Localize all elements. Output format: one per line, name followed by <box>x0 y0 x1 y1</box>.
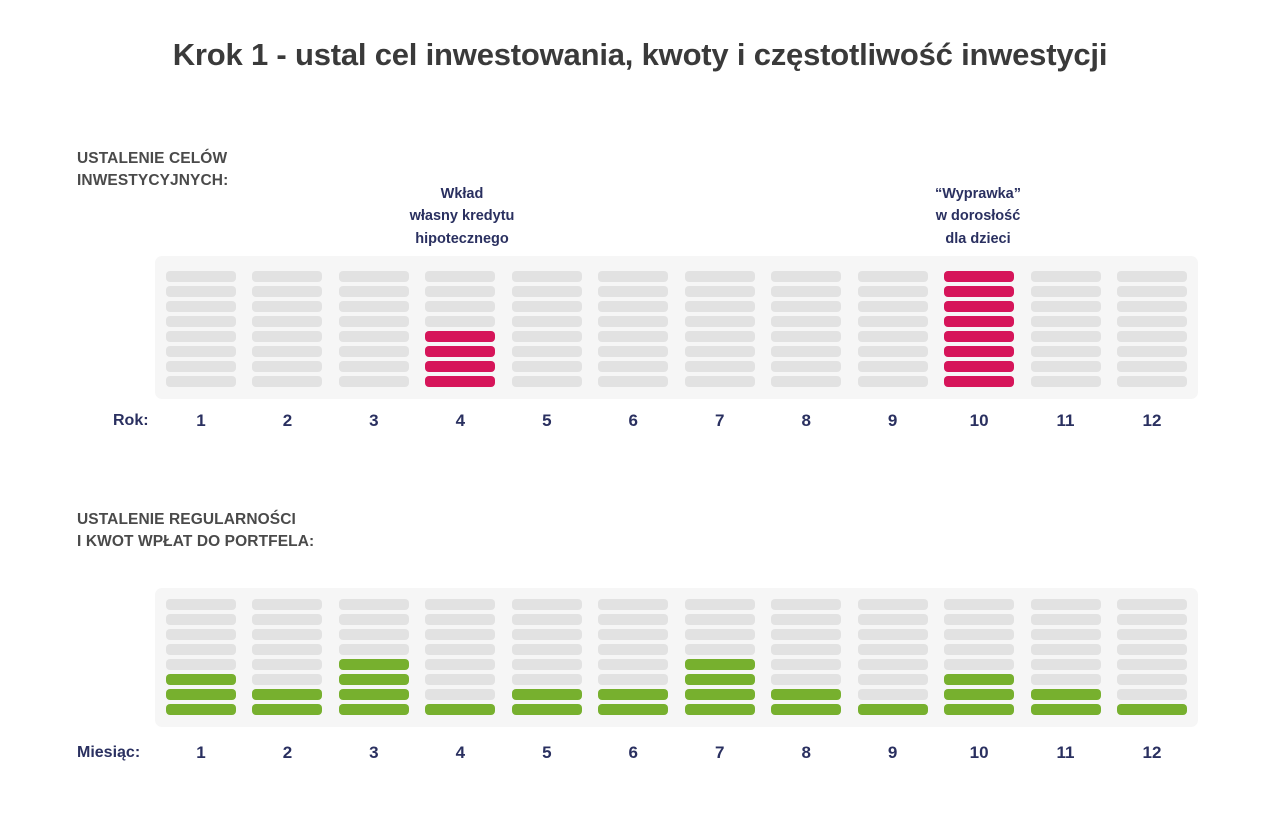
chart-panel-months <box>155 588 1198 727</box>
month-segment <box>252 689 322 700</box>
month-axis-tick: 1 <box>166 743 236 763</box>
year-segment <box>512 316 582 327</box>
year-segment <box>685 331 755 342</box>
month-segment <box>425 689 495 700</box>
section-heading-goals: USTALENIE CELÓW INWESTYCYJNYCH: <box>77 148 228 193</box>
month-segment <box>339 599 409 610</box>
month-segment <box>512 659 582 670</box>
year-column-10[interactable] <box>944 271 1014 387</box>
month-segment <box>166 614 236 625</box>
year-segment <box>944 271 1014 282</box>
year-segment <box>1031 301 1101 312</box>
month-axis-tick: 12 <box>1117 743 1187 763</box>
month-axis-tick: 5 <box>512 743 582 763</box>
year-segment <box>166 376 236 387</box>
month-axis-tick: 3 <box>339 743 409 763</box>
year-segment <box>339 301 409 312</box>
axis-label-month: Miesiąc: <box>77 744 140 762</box>
year-segment <box>858 271 928 282</box>
month-segment <box>166 659 236 670</box>
year-segment <box>1031 271 1101 282</box>
year-segment <box>512 346 582 357</box>
year-segment <box>598 361 668 372</box>
month-segment <box>598 704 668 715</box>
month-segment <box>944 674 1014 685</box>
year-axis-tick: 8 <box>771 411 841 431</box>
month-segment <box>252 599 322 610</box>
month-column-5[interactable] <box>512 599 582 715</box>
month-axis-tick: 2 <box>252 743 322 763</box>
year-segment <box>858 376 928 387</box>
month-column-9[interactable] <box>858 599 928 715</box>
year-segment <box>166 271 236 282</box>
year-segment <box>339 286 409 297</box>
year-segment <box>598 271 668 282</box>
month-segment <box>512 704 582 715</box>
year-segment <box>425 361 495 372</box>
year-segment <box>1117 331 1187 342</box>
month-column-8[interactable] <box>771 599 841 715</box>
month-segment <box>166 644 236 655</box>
month-segment <box>598 674 668 685</box>
year-segment <box>512 376 582 387</box>
year-segment <box>685 271 755 282</box>
month-segment <box>339 689 409 700</box>
year-segment <box>858 316 928 327</box>
year-segment <box>252 271 322 282</box>
year-column-11[interactable] <box>1031 271 1101 387</box>
year-segment <box>944 316 1014 327</box>
month-segment <box>425 674 495 685</box>
year-segment <box>1117 301 1187 312</box>
year-segment <box>944 301 1014 312</box>
year-segment <box>1031 286 1101 297</box>
month-segment <box>1031 614 1101 625</box>
month-segment <box>1031 644 1101 655</box>
month-column-6[interactable] <box>598 599 668 715</box>
month-column-2[interactable] <box>252 599 322 715</box>
year-segment <box>425 331 495 342</box>
month-column-3[interactable] <box>339 599 409 715</box>
year-column-7[interactable] <box>685 271 755 387</box>
month-segment <box>858 704 928 715</box>
month-segment <box>944 614 1014 625</box>
month-column-12[interactable] <box>1117 599 1187 715</box>
year-segment <box>425 346 495 357</box>
year-axis-tick: 12 <box>1117 411 1187 431</box>
month-segment <box>771 704 841 715</box>
year-segment <box>425 316 495 327</box>
month-axis-tick: 6 <box>598 743 668 763</box>
month-segment <box>166 629 236 640</box>
month-axis-tick: 11 <box>1031 743 1101 763</box>
infographic-page: Krok 1 - ustal cel inwestowania, kwoty i… <box>0 0 1280 837</box>
year-segment <box>771 376 841 387</box>
year-column-12[interactable] <box>1117 271 1187 387</box>
month-column-11[interactable] <box>1031 599 1101 715</box>
year-segment <box>685 361 755 372</box>
annotation-children-line1: “Wyprawka” <box>935 183 1021 205</box>
year-segment <box>252 361 322 372</box>
year-segment <box>339 346 409 357</box>
year-segment <box>685 346 755 357</box>
year-segment <box>771 286 841 297</box>
year-axis-tick: 5 <box>512 411 582 431</box>
month-segment <box>425 704 495 715</box>
year-column-5[interactable] <box>512 271 582 387</box>
month-segment <box>1117 629 1187 640</box>
month-segment <box>771 599 841 610</box>
year-segment <box>858 361 928 372</box>
month-axis-tick: 10 <box>944 743 1014 763</box>
axis-label-year: Rok: <box>113 412 149 430</box>
month-segment <box>252 629 322 640</box>
axis-ticks-years: 123456789101112 <box>155 411 1198 431</box>
axis-ticks-months: 123456789101112 <box>155 743 1198 763</box>
month-segment <box>1117 689 1187 700</box>
year-segment <box>771 301 841 312</box>
year-column-1[interactable] <box>166 271 236 387</box>
section-heading-goals-line1: USTALENIE CELÓW <box>77 148 228 170</box>
month-segment <box>944 689 1014 700</box>
month-segment <box>771 689 841 700</box>
year-axis-tick: 2 <box>252 411 322 431</box>
month-segment <box>1031 659 1101 670</box>
year-segment <box>1117 346 1187 357</box>
year-segment <box>1117 316 1187 327</box>
month-segment <box>598 629 668 640</box>
year-segment <box>512 271 582 282</box>
year-column-8[interactable] <box>771 271 841 387</box>
month-segment <box>858 644 928 655</box>
month-segment <box>685 629 755 640</box>
month-segment <box>598 599 668 610</box>
section-heading-regularity-line2: I KWOT WPŁAT DO PORTFELA: <box>77 531 314 553</box>
month-segment <box>771 659 841 670</box>
month-segment <box>1117 674 1187 685</box>
year-segment <box>425 301 495 312</box>
month-segment <box>1117 659 1187 670</box>
annotation-mortgage-line3: hipotecznego <box>410 228 515 250</box>
month-segment <box>771 674 841 685</box>
annotation-mortgage-line1: Wkład <box>410 183 515 205</box>
month-axis-tick: 4 <box>425 743 495 763</box>
year-segment <box>339 271 409 282</box>
month-segment <box>1117 704 1187 715</box>
month-segment <box>685 689 755 700</box>
year-column-3[interactable] <box>339 271 409 387</box>
month-segment <box>685 674 755 685</box>
month-axis-tick: 7 <box>685 743 755 763</box>
month-segment <box>685 704 755 715</box>
month-segment <box>512 689 582 700</box>
month-segment <box>944 659 1014 670</box>
year-segment <box>1031 376 1101 387</box>
month-segment <box>166 689 236 700</box>
year-column-4[interactable] <box>425 271 495 387</box>
year-segment <box>685 316 755 327</box>
month-segment <box>771 644 841 655</box>
month-segment <box>685 644 755 655</box>
year-segment <box>858 301 928 312</box>
month-segment <box>252 704 322 715</box>
month-segment <box>1117 644 1187 655</box>
year-segment <box>166 301 236 312</box>
year-segment <box>771 331 841 342</box>
month-segment <box>252 659 322 670</box>
year-axis-tick: 4 <box>425 411 495 431</box>
year-column-2[interactable] <box>252 271 322 387</box>
year-segment <box>1117 376 1187 387</box>
year-axis-tick: 7 <box>685 411 755 431</box>
year-segment <box>166 346 236 357</box>
year-segment <box>512 361 582 372</box>
month-segment <box>1031 689 1101 700</box>
year-segment <box>339 376 409 387</box>
month-segment <box>598 689 668 700</box>
year-axis-tick: 11 <box>1031 411 1101 431</box>
year-segment <box>1117 271 1187 282</box>
year-segment <box>339 361 409 372</box>
month-segment <box>512 599 582 610</box>
year-segment <box>598 346 668 357</box>
year-segment <box>1031 361 1101 372</box>
month-segment <box>339 629 409 640</box>
month-segment <box>339 644 409 655</box>
section-heading-regularity-line1: USTALENIE REGULARNOŚCI <box>77 509 314 531</box>
month-segment <box>858 659 928 670</box>
month-segment <box>1031 599 1101 610</box>
month-segment <box>944 629 1014 640</box>
month-segment <box>598 644 668 655</box>
month-segment <box>685 614 755 625</box>
year-axis-tick: 10 <box>944 411 1014 431</box>
year-segment <box>252 376 322 387</box>
year-segment <box>339 331 409 342</box>
section-heading-goals-line2: INWESTYCYJNYCH: <box>77 170 228 192</box>
month-segment <box>512 644 582 655</box>
year-segment <box>512 286 582 297</box>
year-axis-tick: 9 <box>858 411 928 431</box>
year-segment <box>944 376 1014 387</box>
year-segment <box>166 286 236 297</box>
year-segment <box>685 286 755 297</box>
month-segment <box>685 659 755 670</box>
year-axis-tick: 3 <box>339 411 409 431</box>
year-segment <box>944 361 1014 372</box>
year-segment <box>252 286 322 297</box>
year-axis-tick: 6 <box>598 411 668 431</box>
year-segment <box>598 286 668 297</box>
month-segment <box>944 704 1014 715</box>
year-segment <box>252 316 322 327</box>
month-segment <box>425 644 495 655</box>
annotation-children-line3: dla dzieci <box>935 228 1021 250</box>
year-segment <box>252 301 322 312</box>
month-column-7[interactable] <box>685 599 755 715</box>
year-segment <box>944 331 1014 342</box>
month-segment <box>512 674 582 685</box>
month-segment <box>944 644 1014 655</box>
month-segment <box>512 629 582 640</box>
annotation-children-fund: “Wyprawka” w dorosłość dla dzieci <box>935 183 1021 250</box>
year-segment <box>512 331 582 342</box>
month-segment <box>1031 704 1101 715</box>
year-segment <box>1031 331 1101 342</box>
month-segment <box>252 674 322 685</box>
year-segment <box>339 316 409 327</box>
month-segment <box>425 659 495 670</box>
month-segment <box>858 674 928 685</box>
month-segment <box>166 599 236 610</box>
year-column-6[interactable] <box>598 271 668 387</box>
year-segment <box>685 301 755 312</box>
month-segment <box>425 629 495 640</box>
month-segment <box>1031 629 1101 640</box>
year-segment <box>944 286 1014 297</box>
year-segment <box>598 301 668 312</box>
year-segment <box>512 301 582 312</box>
annotation-mortgage-line2: własny kredytu <box>410 205 515 227</box>
month-segment <box>339 614 409 625</box>
month-segment <box>166 674 236 685</box>
year-segment <box>771 316 841 327</box>
month-segment <box>858 689 928 700</box>
year-segment <box>598 331 668 342</box>
month-segment <box>1031 674 1101 685</box>
month-segment <box>858 629 928 640</box>
month-segment <box>512 614 582 625</box>
year-segment <box>425 376 495 387</box>
annotation-children-line2: w dorosłość <box>935 205 1021 227</box>
page-title: Krok 1 - ustal cel inwestowania, kwoty i… <box>0 37 1280 73</box>
chart-panel-years <box>155 256 1198 399</box>
year-segment <box>858 331 928 342</box>
month-segment <box>425 599 495 610</box>
year-axis-tick: 1 <box>166 411 236 431</box>
month-segment <box>685 599 755 610</box>
month-segment <box>944 599 1014 610</box>
year-segment <box>685 376 755 387</box>
year-segment <box>858 346 928 357</box>
year-segment <box>166 331 236 342</box>
year-segment <box>1117 361 1187 372</box>
month-segment <box>598 659 668 670</box>
month-column-1[interactable] <box>166 599 236 715</box>
month-column-4[interactable] <box>425 599 495 715</box>
month-segment <box>425 614 495 625</box>
year-segment <box>1031 346 1101 357</box>
year-segment <box>771 271 841 282</box>
year-column-9[interactable] <box>858 271 928 387</box>
year-segment <box>598 376 668 387</box>
year-segment <box>598 316 668 327</box>
year-segment <box>1117 286 1187 297</box>
year-segment <box>858 286 928 297</box>
year-segment <box>252 346 322 357</box>
section-heading-regularity: USTALENIE REGULARNOŚCI I KWOT WPŁAT DO P… <box>77 509 314 554</box>
month-segment <box>1117 614 1187 625</box>
year-segment <box>252 331 322 342</box>
year-segment <box>771 346 841 357</box>
month-segment <box>771 614 841 625</box>
month-segment <box>339 704 409 715</box>
year-segment <box>944 346 1014 357</box>
month-segment <box>771 629 841 640</box>
year-segment <box>425 271 495 282</box>
month-column-10[interactable] <box>944 599 1014 715</box>
month-segment <box>252 644 322 655</box>
year-segment <box>166 361 236 372</box>
month-segment <box>858 599 928 610</box>
month-segment <box>166 704 236 715</box>
year-segment <box>771 361 841 372</box>
month-axis-tick: 9 <box>858 743 928 763</box>
month-segment <box>252 614 322 625</box>
month-segment <box>598 614 668 625</box>
month-segment <box>339 674 409 685</box>
month-axis-tick: 8 <box>771 743 841 763</box>
month-segment <box>339 659 409 670</box>
month-segment <box>858 614 928 625</box>
year-segment <box>166 316 236 327</box>
year-segment <box>1031 316 1101 327</box>
month-segment <box>1117 599 1187 610</box>
year-segment <box>425 286 495 297</box>
annotation-mortgage-downpayment: Wkład własny kredytu hipotecznego <box>410 183 515 250</box>
